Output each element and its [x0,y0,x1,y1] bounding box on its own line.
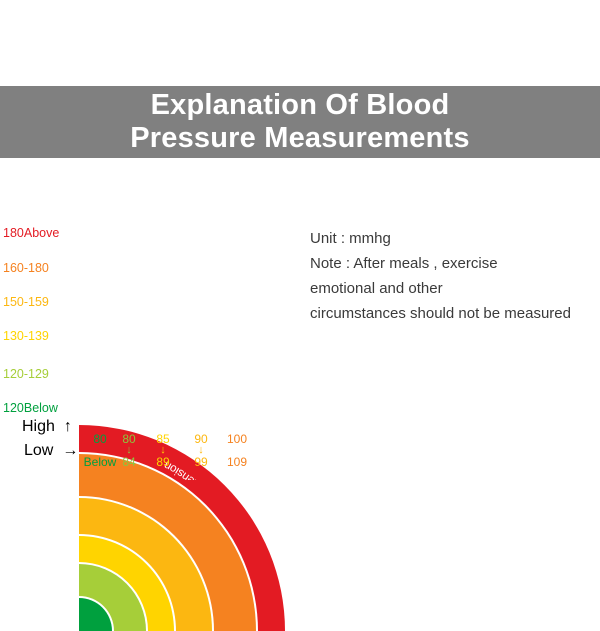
y-axis-label: 160-180 [3,261,79,275]
down-arrow-icon: ↓ [146,446,180,455]
page-title-line-1: Explanation Of Blood [151,89,450,122]
down-arrow-icon: ↓ [184,446,218,455]
page-title-line-2: Pressure Measurements [130,122,469,155]
axis-label-high: High↑ [22,418,72,436]
axis-arrow-right-icon: → [62,442,78,459]
info-line: Unit : mmhg [310,226,590,251]
x-axis-label-spacer [219,446,255,455]
y-axis-label: 130-139 [3,329,79,343]
axis-label-low-text: Low [24,442,53,459]
x-axis-label: 90↓99 [184,432,218,469]
x-axis-label-bottom: 109 [219,455,255,469]
x-axis-label-bottom: 84 [112,455,146,469]
axis-label-low: Low→ [24,442,78,460]
info-line: Note : After meals , exercise [310,251,590,276]
axis-label-high-text: High [22,418,55,435]
x-axis-label: 100 109 [219,432,255,469]
down-arrow-icon: ↓ [112,446,146,455]
blood-pressure-fan-chart: 180Above160-180150-159130-139120-129120B… [0,200,300,480]
info-line: circumstances should not be measured [310,301,590,326]
x-axis-label: 80↓84 [112,432,146,469]
axis-arrow-up-icon: ↑ [64,418,72,435]
y-axis-label: 180Above [3,226,79,240]
info-note-block: Unit : mmhg Note : After meals , exercis… [310,226,590,326]
y-axis-label: 120Below [3,401,79,415]
y-axis-label: 120-129 [3,367,79,381]
info-line: emotional and other [310,276,590,301]
x-axis-label-bottom: 89 [146,455,180,469]
page-root: Explanation Of Blood Pressure Measuremen… [0,0,600,600]
x-axis-label: 85↓89 [146,432,180,469]
y-axis-label: 150-159 [3,295,79,309]
page-header-banner: Explanation Of Blood Pressure Measuremen… [0,86,600,158]
x-axis-label-bottom: 99 [184,455,218,469]
